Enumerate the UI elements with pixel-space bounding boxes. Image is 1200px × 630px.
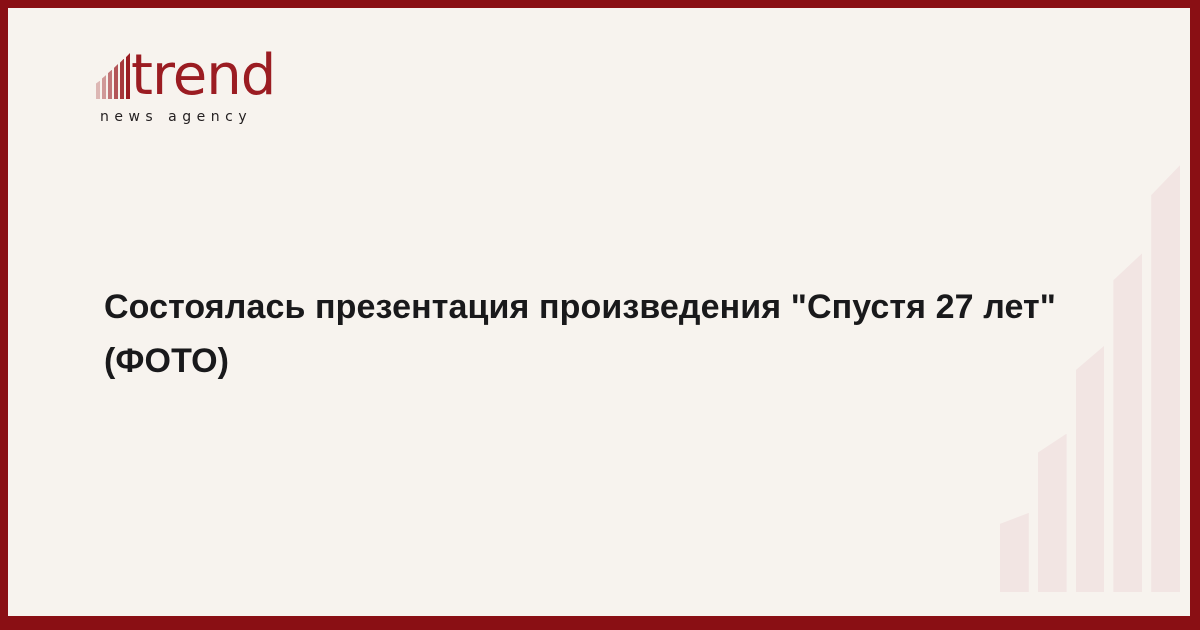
- watermark-bar-4: [1113, 253, 1142, 592]
- logo-bar-6: [126, 53, 130, 99]
- trend-logo[interactable]: trend news agency: [96, 44, 275, 125]
- logo-bar-3: [108, 70, 112, 99]
- logo-wordmark: trend: [131, 49, 275, 102]
- watermark-bar-5: [1151, 165, 1180, 592]
- page-title: Состоялась презентация произведения "Спу…: [104, 280, 1094, 388]
- logo-bar-5: [120, 59, 124, 99]
- watermark-bar-1: [1000, 513, 1029, 592]
- logo-wordmark-row: trend: [96, 44, 275, 102]
- logo-bar-4: [114, 64, 118, 99]
- watermark-bar-2: [1038, 434, 1067, 592]
- card-inner: trend news agency Состоялась презентация…: [8, 8, 1190, 616]
- trend-bars-icon: [96, 53, 130, 99]
- logo-bar-2: [102, 75, 106, 99]
- logo-bar-1: [96, 81, 100, 99]
- logo-tagline: news agency: [100, 109, 275, 125]
- news-share-card: trend news agency Состоялась презентация…: [0, 0, 1200, 630]
